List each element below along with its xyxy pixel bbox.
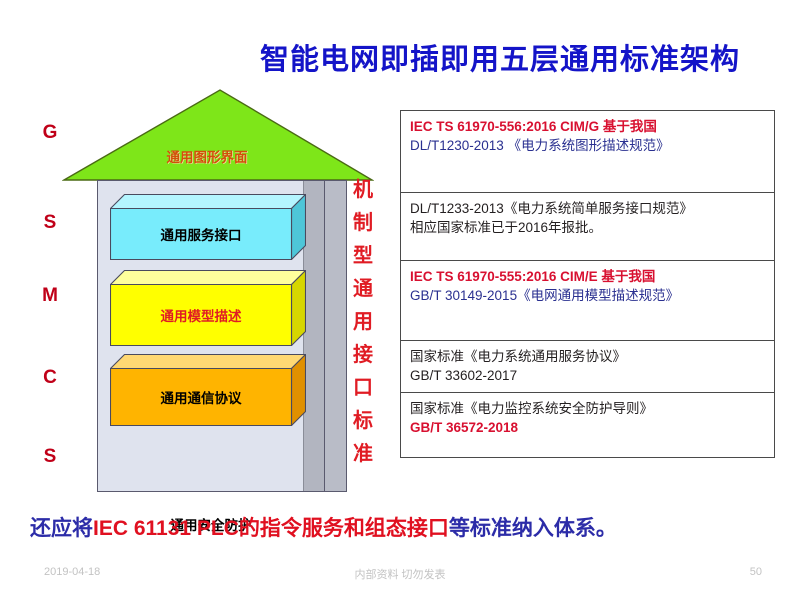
slide-canvas: 智能电网即插即用五层通用标准架构 GSMCS 通用图形界面 通用服务接口通用模型… [0, 0, 800, 600]
layer-letter-4: S [36, 446, 64, 468]
table-row-2-line-1: GB/T 30149-2015《电网通用模型描述规范》 [410, 286, 765, 305]
vertical-label-char-4: 用 [350, 306, 376, 339]
table-row-3-line-0: 国家标准《电力系统通用服务协议》 [410, 347, 765, 366]
vertical-label-char-8: 准 [350, 438, 376, 471]
vertical-label-char-6: 口 [350, 372, 376, 405]
slide-footer: 2019-04-18 内部资料 切勿发表 50 [0, 566, 800, 588]
vertical-axis-label: 机制型通用接口标准 [350, 174, 376, 471]
wall-side-panel [325, 180, 347, 492]
footer-page-number: 50 [750, 566, 762, 578]
layer-box-label-1: 通用模型描述 [110, 284, 292, 346]
bottom-note-part1: 还应将 [30, 517, 93, 540]
house-diagram: 通用图形界面 通用服务接口通用模型描述通用通信协议 通用安全防护 [62, 82, 382, 492]
roof-label: 通用图形界面 [62, 146, 352, 166]
table-row-0-line-1: DL/T1230-2013 《电力系统图形描述规范》 [410, 136, 765, 155]
layer-box-2: 通用通信协议 [110, 354, 306, 426]
layer-box-1: 通用模型描述 [110, 270, 306, 346]
vertical-label-char-2: 型 [350, 240, 376, 273]
layer-box-label-0: 通用服务接口 [110, 208, 292, 260]
layer-letter-3: C [36, 367, 64, 389]
standards-table: IEC TS 61970-556:2016 CIM/G 基于我国DL/T1230… [400, 110, 775, 458]
table-row: IEC TS 61970-555:2016 CIM/E 基于我国GB/T 301… [401, 261, 774, 341]
bottom-note: 还应将IEC 61131 PLC的指令服务和组态接口等标准纳入体系。 [30, 512, 780, 542]
layer-letter-0: G [36, 122, 64, 144]
wall-inner-right-column [303, 181, 324, 491]
page-title: 智能电网即插即用五层通用标准架构 [200, 36, 800, 78]
bottom-note-part2: IEC 61131 PLC的指令服务和组态接口 [93, 517, 449, 540]
vertical-label-char-3: 通 [350, 273, 376, 306]
table-row-4-line-1: GB/T 36572-2018 [410, 418, 765, 437]
layer-letter-1: S [36, 212, 64, 234]
vertical-label-char-7: 标 [350, 405, 376, 438]
layer-box-0: 通用服务接口 [110, 194, 306, 260]
table-row-1-line-1: 相应国家标准已于2016年报批。 [410, 218, 765, 237]
vertical-label-char-1: 制 [350, 207, 376, 240]
footer-notice: 内部资料 切勿发表 [0, 566, 800, 582]
vertical-label-char-5: 接 [350, 339, 376, 372]
table-row-0-line-0: IEC TS 61970-556:2016 CIM/G 基于我国 [410, 117, 765, 136]
table-row-2-line-0: IEC TS 61970-555:2016 CIM/E 基于我国 [410, 267, 765, 286]
layer-box-label-2: 通用通信协议 [110, 368, 292, 426]
layer-letter-2: M [36, 285, 64, 307]
roof-shape [62, 86, 374, 182]
bottom-note-part3: 等标准纳入体系。 [449, 517, 617, 540]
table-row-3-line-1: GB/T 33602-2017 [410, 366, 765, 385]
table-row: IEC TS 61970-556:2016 CIM/G 基于我国DL/T1230… [401, 111, 774, 193]
table-row: 国家标准《电力系统通用服务协议》GB/T 33602-2017 [401, 341, 774, 393]
table-row: DL/T1233-2013《电力系统简单服务接口规范》相应国家标准已于2016年… [401, 193, 774, 261]
table-row-1-line-0: DL/T1233-2013《电力系统简单服务接口规范》 [410, 199, 765, 218]
table-row: 国家标准《电力监控系统安全防护导则》GB/T 36572-2018 [401, 393, 774, 457]
vertical-label-char-0: 机 [350, 174, 376, 207]
table-row-4-line-0: 国家标准《电力监控系统安全防护导则》 [410, 399, 765, 418]
